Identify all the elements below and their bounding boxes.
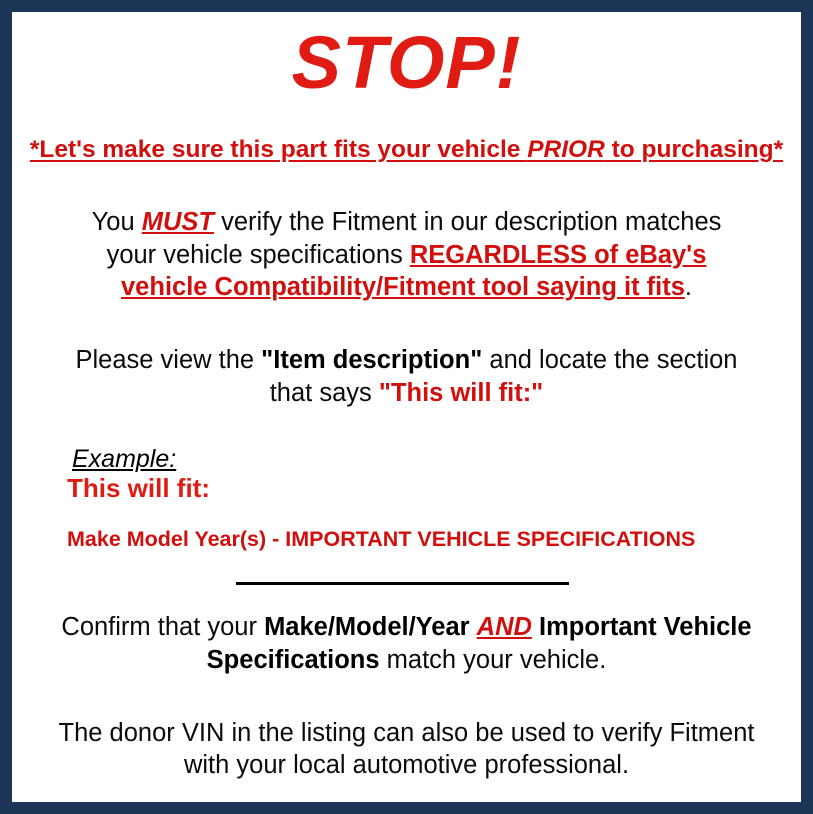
confirm-space-2 (532, 613, 539, 641)
confirm-seg-2: match your vehicle. (380, 646, 607, 674)
example-fit-heading: This will fit: (67, 474, 787, 503)
tagline-banner: *Let's make sure this part fits your veh… (26, 136, 787, 164)
must-verify-paragraph: You MUST verify the Fitment in our descr… (64, 206, 749, 304)
tagline-emphasis-prior: PRIOR (527, 136, 605, 163)
divider-line (236, 582, 569, 585)
confirm-seg-1: Confirm that your (61, 613, 264, 641)
must-seg-3: . (685, 273, 692, 301)
emphasis-item-description: "Item description" (261, 346, 482, 374)
divider (26, 577, 787, 591)
tagline-lead: *Let's make sure this part fits your veh… (30, 136, 527, 163)
fitment-notice-card: STOP! *Let's make sure this part fits yo… (0, 0, 813, 814)
vin-paragraph: The donor VIN in the listing can also be… (44, 717, 769, 782)
closing-thanks: Thank you for confirming Fitment! (26, 804, 787, 814)
emphasis-and: AND (477, 613, 532, 641)
must-seg-1: You (92, 208, 142, 236)
notice-content: STOP! *Let's make sure this part fits yo… (12, 26, 801, 814)
example-spec-line: Make Model Year(s) - IMPORTANT VEHICLE S… (67, 527, 787, 551)
desc-seg-1: Please view the (75, 346, 261, 374)
example-block: Example: This will fit: Make Model Year(… (26, 445, 787, 551)
item-description-paragraph: Please view the "Item description" and l… (56, 344, 757, 409)
emphasis-must: MUST (142, 208, 214, 236)
emphasis-this-will-fit: "This will fit:" (379, 379, 543, 407)
confirm-paragraph: Confirm that your Make/Model/Year AND Im… (44, 611, 769, 676)
confirm-space-1 (470, 613, 477, 641)
tagline-trail: to purchasing* (605, 136, 783, 163)
page-title: STOP! (26, 26, 787, 100)
example-label: Example: (72, 445, 176, 473)
emphasis-make-model-year: Make/Model/Year (264, 613, 470, 641)
